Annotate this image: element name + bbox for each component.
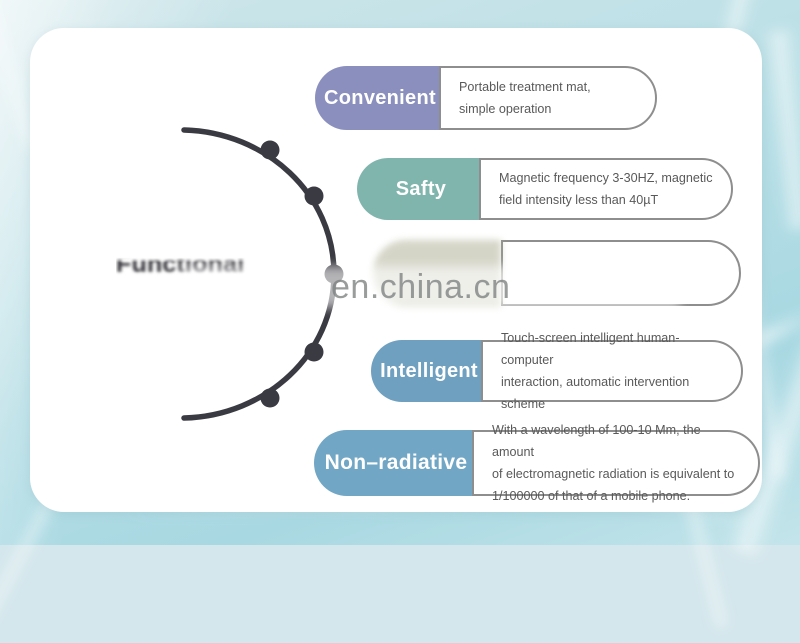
feature-description-obscured [501, 240, 741, 306]
feature-description-line: Touch-screen intelligent human-computer [501, 327, 725, 371]
feature-description-line: of electromagnetic radiation is equivale… [492, 463, 742, 485]
feature-label-intelligent[interactable]: Intelligent [371, 340, 481, 402]
feature-description-line: With a wavelength of 100-10 Mm, the amou… [492, 419, 742, 463]
feature-description-safty: Magnetic frequency 3-30HZ, magnetic fiel… [479, 158, 733, 220]
feature-label-non-radiative[interactable]: Non–radiative [314, 430, 472, 496]
feature-row: Convenient Portable treatment mat, simpl… [315, 66, 657, 130]
diagram-center-label: Functional [116, 250, 316, 279]
feature-description-line: simple operation [459, 98, 591, 120]
arc-node-dot [305, 187, 324, 206]
feature-description-intelligent: Touch-screen intelligent human-computer … [481, 340, 743, 402]
content-card: Functional Convenient Portable treatment… [30, 28, 762, 512]
feature-label-safty[interactable]: Safty [357, 158, 479, 220]
arc-node-dot [261, 141, 280, 160]
background-streak [762, 29, 800, 231]
feature-description-convenient: Portable treatment mat, simple operation [439, 66, 657, 130]
feature-description-line: interaction, automatic intervention sche… [501, 371, 725, 415]
feature-label-convenient[interactable]: Convenient [315, 66, 439, 130]
feature-description-line: field intensity less than 40µT [499, 189, 713, 211]
arc-node-dot [261, 389, 280, 408]
feature-row: Intelligent Touch-screen intelligent hum… [371, 340, 743, 402]
feature-row: Safty Magnetic frequency 3-30HZ, magneti… [357, 158, 733, 220]
feature-row: Non–radiative With a wavelength of 100-1… [314, 430, 760, 496]
feature-description-line: Portable treatment mat, [459, 76, 591, 98]
feature-label-obscured[interactable] [373, 240, 501, 306]
feature-description-line: 1/100000 of that of a mobile phone. [492, 485, 742, 507]
feature-description-non-radiative: With a wavelength of 100-10 Mm, the amou… [472, 430, 760, 496]
slide-canvas: Functional Convenient Portable treatment… [0, 0, 800, 545]
arc-node-dot [305, 343, 324, 362]
arc-node-dot [325, 265, 344, 284]
feature-row-obscured [373, 240, 741, 306]
feature-description-line: Magnetic frequency 3-30HZ, magnetic [499, 167, 713, 189]
